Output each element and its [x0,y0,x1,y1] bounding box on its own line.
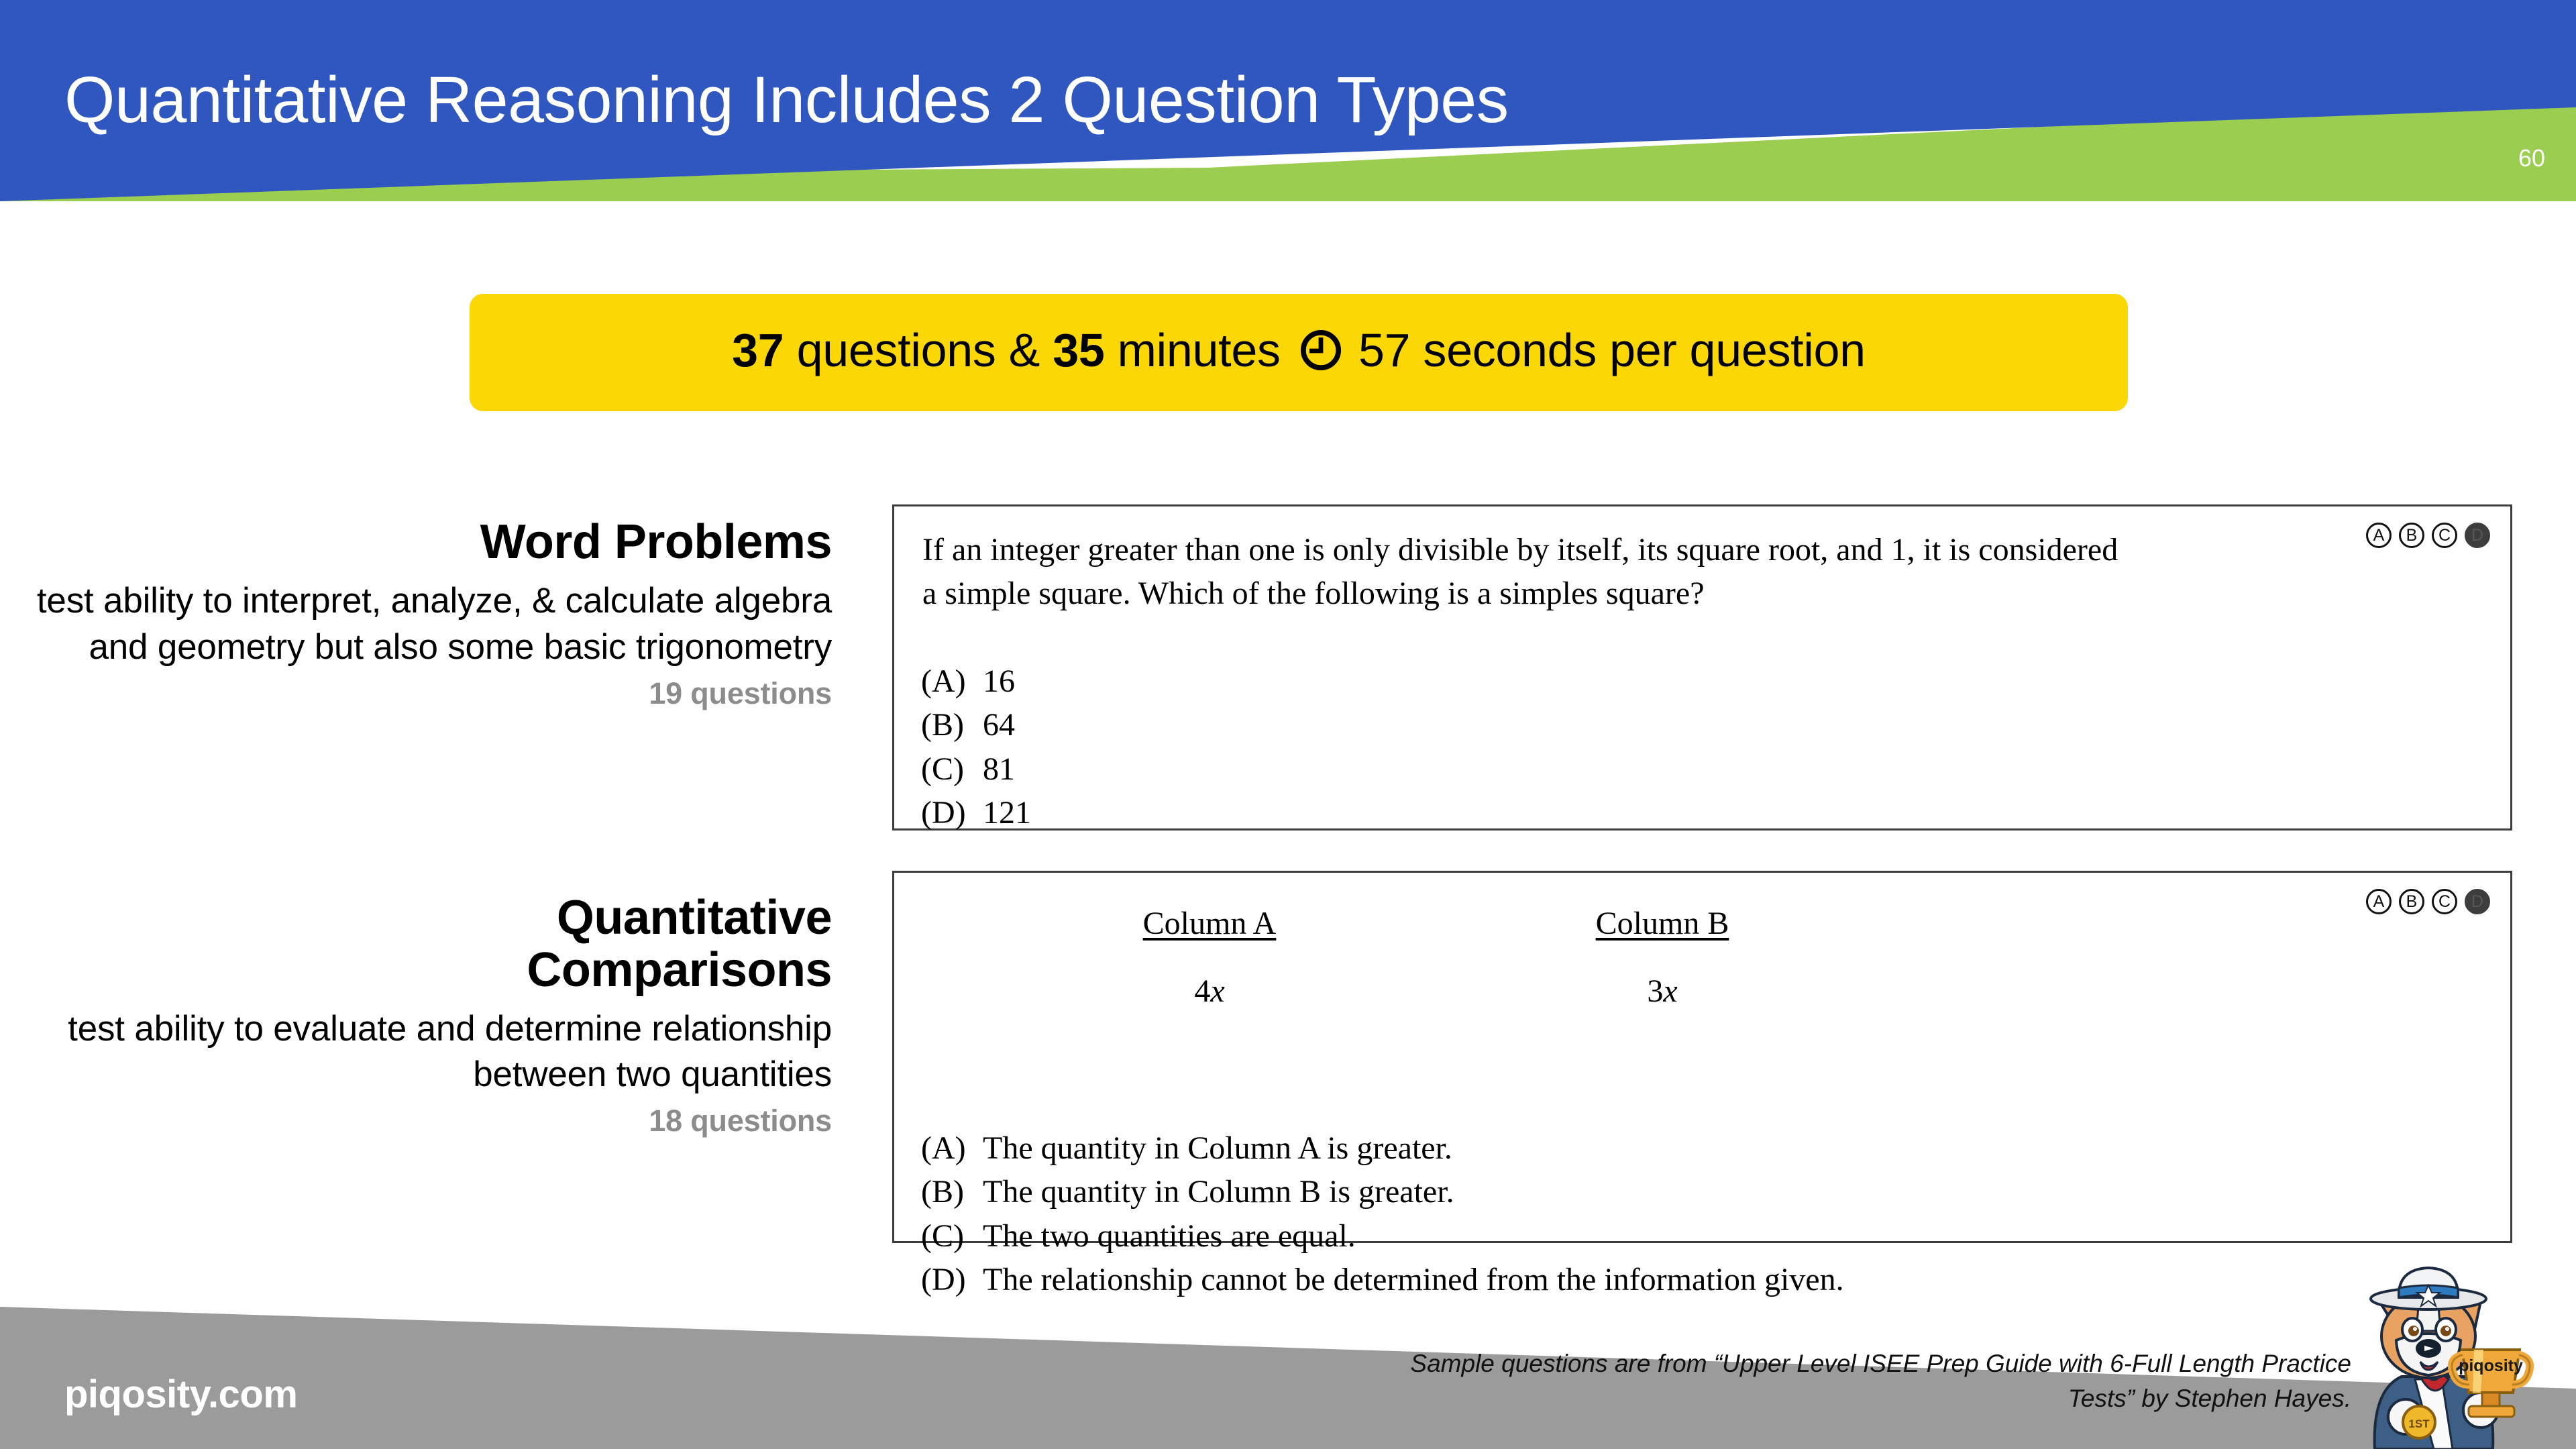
trophy-label: piqosity [2459,1356,2523,1375]
choice-text: The two quantities are equal. [983,1214,1356,1258]
footer-brand: piqosity.com [64,1372,297,1417]
question-choices: (A) The quantity in Column A is greater.… [921,1126,1844,1301]
choice-row[interactable]: (D) 121 [921,791,1031,835]
answer-bubble-b[interactable]: B [2399,523,2424,548]
choice-label: (B) [921,703,983,747]
choice-text: The relationship cannot be determined fr… [983,1258,1844,1301]
answer-bubble-c[interactable]: C [2432,523,2457,548]
column-a-coefficient: 4 [1194,973,1210,1009]
choice-text: 81 [983,747,1015,791]
sample-question-box-word-problem: If an integer greater than one is only d… [892,504,2512,830]
column-a: Column A 4x [1075,905,1344,1010]
choice-label: (D) [921,1258,983,1301]
section-count-quant-comparisons: 18 questions [27,1104,832,1138]
choice-label: (D) [921,791,983,835]
attribution-line-2: Tests” by Stephen Hayes. [1345,1381,2351,1417]
choice-label: (C) [921,1214,983,1258]
stats-banner: 37 questions & 35 minutes 57 seconds per… [470,294,2128,411]
answer-bubble-a[interactable]: A [2366,889,2392,914]
choice-row[interactable]: (C) The two quantities are equal. [921,1214,1844,1258]
column-a-value: 4x [1075,973,1344,1010]
choice-row[interactable]: (C) 81 [921,747,1031,791]
attribution-line-1: Sample questions are from “Upper Level I… [1345,1346,2351,1382]
choice-text: The quantity in Column B is greater. [983,1170,1454,1214]
answer-bubble-c[interactable]: C [2432,889,2457,914]
choice-label: (A) [921,1126,983,1170]
choice-row[interactable]: (A) The quantity in Column A is greater. [921,1126,1844,1170]
column-b-header: Column B [1528,905,1796,942]
column-a-header: Column A [1075,905,1344,942]
sample-question-box-quantitative-comparison: Column A 4x Column B 3x (A) The quantity… [892,871,2512,1243]
question-count: 37 [732,324,784,376]
page-title: Quantitative Reasoning Includes 2 Questi… [64,64,2144,136]
answer-bubble-d[interactable]: D [2465,523,2490,548]
question-choices: (A) 16 (B) 64 (C) 81 (D) 121 [921,659,1031,835]
choice-text: 16 [983,659,1015,703]
clock-icon [1300,328,1342,382]
section-word-problems: Word Problems test ability to interpret,… [27,517,832,711]
minute-count: 35 [1053,324,1104,376]
column-b: Column B 3x [1528,905,1796,1010]
questions-word: questions & [784,324,1053,376]
choice-text: 121 [983,791,1031,835]
per-question-text: 57 seconds per question [1346,324,1866,376]
section-title-quant-line2: Comparisons [27,945,832,997]
choice-row[interactable]: (D) The relationship cannot be determine… [921,1258,1844,1301]
corgi-mascot-illustration: 1ST piqosity [2340,1261,2568,1449]
page-number: 60 [2518,144,2545,172]
attribution-text: Sample questions are from “Upper Level I… [1345,1346,2351,1417]
column-a-variable: x [1210,973,1224,1009]
answer-bubble-row: A B C D [2366,889,2490,914]
svg-text:1ST: 1ST [2408,1417,2430,1430]
corgi-mascot-logo: 1ST piqosity [2340,1261,2568,1449]
column-b-variable: x [1663,973,1677,1009]
choice-label: (B) [921,1170,983,1214]
choice-label: (A) [921,659,983,703]
choice-text: 64 [983,703,1015,747]
section-count-word-problems: 19 questions [27,676,832,711]
choice-row[interactable]: (A) 16 [921,659,1031,703]
answer-bubble-b[interactable]: B [2399,889,2424,914]
section-title-word-problems: Word Problems [27,517,832,569]
choice-row[interactable]: (B) 64 [921,703,1031,747]
column-b-value: 3x [1528,973,1796,1010]
section-title-quant-line1: Quantitative [27,892,832,945]
choice-row[interactable]: (B) The quantity in Column B is greater. [921,1170,1844,1214]
answer-bubble-row: A B C D [2366,523,2490,548]
stats-banner-text: 37 questions & 35 minutes 57 seconds per… [732,323,1866,382]
section-description-quant-comparisons: test ability to evaluate and determine r… [27,1006,832,1099]
question-stem: If an integer greater than one is only d… [922,528,2130,616]
answer-bubble-d[interactable]: D [2465,889,2490,914]
answer-bubble-a[interactable]: A [2366,523,2392,548]
column-b-coefficient: 3 [1647,973,1663,1009]
minutes-word: minutes [1105,324,1293,376]
choice-label: (C) [921,747,983,791]
section-quantitative-comparisons: Quantitative Comparisons test ability to… [27,892,832,1138]
choice-text: The quantity in Column A is greater. [983,1126,1452,1170]
section-description-word-problems: test ability to interpret, analyze, & ca… [27,578,832,671]
